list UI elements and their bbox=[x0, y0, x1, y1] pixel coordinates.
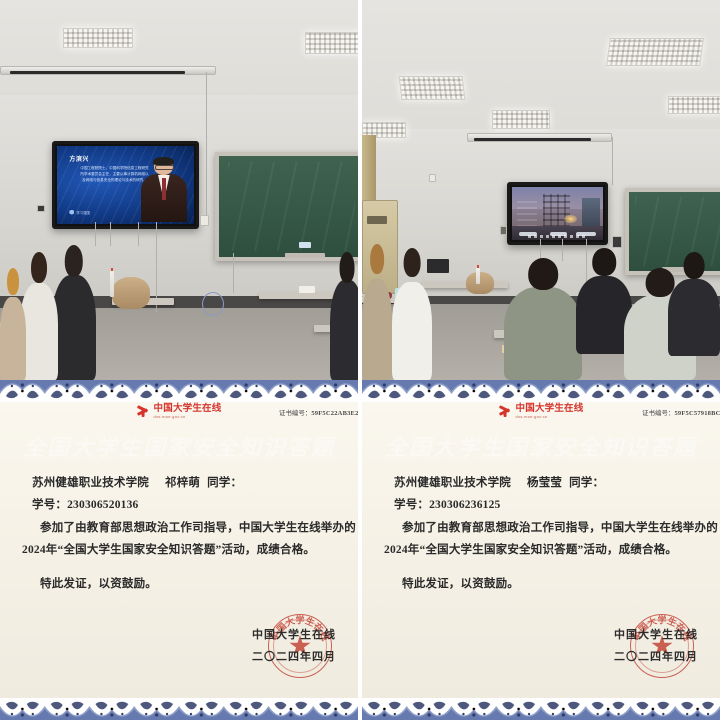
student bbox=[504, 258, 582, 380]
ceiling-light bbox=[606, 38, 704, 66]
running-figure-icon bbox=[499, 404, 513, 418]
speaker-figure bbox=[139, 157, 188, 223]
wall-socket bbox=[37, 205, 45, 212]
wall-socket bbox=[500, 226, 507, 235]
certificate-title: 全国大学生国家安全知识答题 bbox=[0, 428, 358, 462]
tv-cable bbox=[95, 222, 96, 246]
ceiling-light bbox=[492, 110, 550, 129]
student bbox=[362, 244, 392, 380]
cable bbox=[233, 253, 234, 293]
body-line-1: 参加了由教育部思想政治工作司指导，中国大学生在线举办的 bbox=[384, 517, 706, 539]
blue-cloud-wave-border bbox=[362, 380, 720, 402]
issue-date: 二〇二四年四月 bbox=[252, 648, 336, 664]
classroom-photo-right bbox=[362, 0, 720, 380]
tv-screen: 方滨兴 中国工程院院士、中国科学院信息工程研究所学术委员会主任，主要从事计算机网… bbox=[57, 146, 194, 224]
projector-screen-case bbox=[467, 133, 612, 142]
student-id-value: 230306520136 bbox=[67, 499, 138, 511]
tv-screen bbox=[512, 187, 603, 240]
projector-screen-case bbox=[0, 66, 216, 75]
signer-name: 中国大学生在线 bbox=[252, 626, 336, 642]
wall-tv-right bbox=[507, 182, 608, 245]
student-name: 杨莹莹 bbox=[527, 477, 562, 489]
student bbox=[0, 268, 26, 380]
student-name: 祁梓萌 bbox=[165, 477, 200, 489]
wall-socket bbox=[612, 236, 622, 248]
signature-block: 中国大学生在线 中国大学生在线 二〇二四年四月 bbox=[210, 620, 342, 686]
ceiling-light bbox=[305, 32, 358, 54]
closing-line: 特此发证，以资鼓励。 bbox=[22, 573, 344, 595]
tv-cable bbox=[138, 222, 139, 246]
ceiling-light bbox=[668, 96, 720, 114]
hex-icon bbox=[69, 210, 74, 215]
video-watermark: 学习强国 bbox=[69, 210, 90, 215]
signature-block: 中国大学生在线 中国大学生在线 二〇二四年四月 bbox=[572, 620, 704, 686]
blue-cloud-wave-border bbox=[362, 698, 720, 720]
tv-cable bbox=[110, 222, 111, 246]
school-name: 苏州健雄职业技术学院 bbox=[394, 477, 511, 489]
classroom-photo-left: 方滨兴 中国工程院院士、中国科学院信息工程研究所学术委员会主任，主要从事计算机网… bbox=[0, 0, 358, 380]
water-bottle bbox=[476, 268, 480, 284]
wall-socket bbox=[200, 215, 209, 226]
certificate-number-label: 证书编号： bbox=[279, 409, 312, 417]
ceiling-light bbox=[63, 28, 133, 48]
cable bbox=[612, 137, 613, 185]
student-id-line: 学号：230306236125 bbox=[384, 494, 706, 516]
issue-date: 二〇二四年四月 bbox=[614, 648, 698, 664]
brand-url: dxs.moe.gov.cn bbox=[516, 415, 584, 419]
brand-logo: 中国大学生在线 dxs.moe.gov.cn bbox=[137, 404, 222, 419]
student bbox=[392, 248, 432, 380]
student-suffix: 同学： bbox=[207, 477, 242, 489]
student bbox=[668, 252, 720, 356]
certificate-body: 苏州健雄职业技术学院祁梓萌同学： 学号：230306520136 参加了由教育部… bbox=[22, 472, 344, 595]
student-suffix: 同学： bbox=[569, 477, 604, 489]
panel-divider bbox=[358, 0, 362, 720]
red-circular-seal-icon: 中国大学生在线 bbox=[630, 614, 694, 678]
signer-name: 中国大学生在线 bbox=[614, 626, 698, 642]
cable-loop bbox=[202, 292, 224, 316]
cable bbox=[206, 72, 207, 222]
body-line-2: 2024年“全国大学生国家安全知识答题”活动，成绩合格。 bbox=[22, 539, 344, 561]
speaker-name: 方滨兴 bbox=[69, 154, 89, 163]
recipient-line: 苏州健雄职业技术学院杨莹莹同学： bbox=[384, 472, 706, 494]
certificate-header: 中国大学生在线 dxs.moe.gov.cn 证书编号：59F5C57918BC… bbox=[362, 402, 720, 428]
brand-name-cn: 中国大学生在线 bbox=[516, 404, 584, 414]
desk bbox=[259, 292, 337, 299]
body-line-1: 参加了由教育部思想政治工作司指导，中国大学生在线举办的 bbox=[22, 517, 344, 539]
ceiling-light bbox=[399, 76, 466, 100]
brand-logo: 中国大学生在线 dxs.moe.gov.cn bbox=[499, 404, 584, 419]
backpack bbox=[112, 277, 150, 309]
certificate-right: 中国大学生在线 dxs.moe.gov.cn 证书编号：59F5C57918BC… bbox=[362, 380, 720, 720]
certificate-number-value: 59F5C57918BC6 bbox=[674, 410, 720, 417]
brand-name-cn: 中国大学生在线 bbox=[154, 404, 222, 414]
brand-url: dxs.moe.gov.cn bbox=[154, 415, 222, 419]
chalk-tray bbox=[285, 253, 325, 258]
certificate-number: 证书编号：59F5C57918BC6 bbox=[642, 407, 720, 417]
recipient-line: 苏州健雄职业技术学院祁梓萌同学： bbox=[22, 472, 344, 494]
blue-cloud-wave-border bbox=[0, 380, 358, 402]
running-figure-icon bbox=[137, 404, 151, 418]
student-id-line: 学号：230306520136 bbox=[22, 494, 344, 516]
tissue-box bbox=[299, 286, 315, 293]
school-name: 苏州健雄职业技术学院 bbox=[32, 477, 149, 489]
certificate-title: 全国大学生国家安全知识答题 bbox=[362, 428, 720, 462]
water-bottle bbox=[110, 271, 114, 297]
blackboard bbox=[215, 152, 358, 261]
certificate-number-label: 证书编号： bbox=[642, 409, 675, 417]
certificate-number-value: 59F5C22AB3E27 bbox=[311, 410, 358, 417]
closing-line: 特此发证，以资鼓励。 bbox=[384, 573, 706, 595]
student-id-value: 230306236125 bbox=[429, 499, 500, 511]
certificate-left: 中国大学生在线 dxs.moe.gov.cn 证书编号：59F5C22AB3E2… bbox=[0, 380, 358, 720]
disaster-footage-slide bbox=[512, 187, 603, 240]
red-circular-seal-icon: 中国大学生在线 bbox=[268, 614, 332, 678]
student bbox=[330, 252, 358, 380]
lecture-slide: 方滨兴 中国工程院院士、中国科学院信息工程研究所学术委员会主任，主要从事计算机网… bbox=[57, 146, 194, 224]
desk bbox=[422, 281, 508, 288]
desk-item bbox=[299, 242, 311, 248]
certificate-body: 苏州健雄职业技术学院杨莹莹同学： 学号：230306236125 参加了由教育部… bbox=[384, 472, 706, 595]
student bbox=[52, 245, 96, 380]
student-id-label: 学号： bbox=[32, 499, 67, 511]
blue-cloud-wave-border bbox=[0, 698, 358, 720]
wall-socket bbox=[429, 174, 436, 182]
certificate-number: 证书编号：59F5C22AB3E27 bbox=[279, 407, 358, 417]
student-id-label: 学号： bbox=[394, 499, 429, 511]
body-line-2: 2024年“全国大学生国家安全知识答题”活动，成绩合格。 bbox=[384, 539, 706, 561]
wall-tv-left: 方滨兴 中国工程院院士、中国科学院信息工程研究所学术委员会主任，主要从事计算机网… bbox=[52, 141, 199, 229]
certificate-header: 中国大学生在线 dxs.moe.gov.cn 证书编号：59F5C22AB3E2… bbox=[0, 402, 358, 428]
backpack bbox=[466, 272, 494, 294]
collage-canvas: 方滨兴 中国工程院院士、中国科学院信息工程研究所学术委员会主任，主要从事计算机网… bbox=[0, 0, 720, 720]
